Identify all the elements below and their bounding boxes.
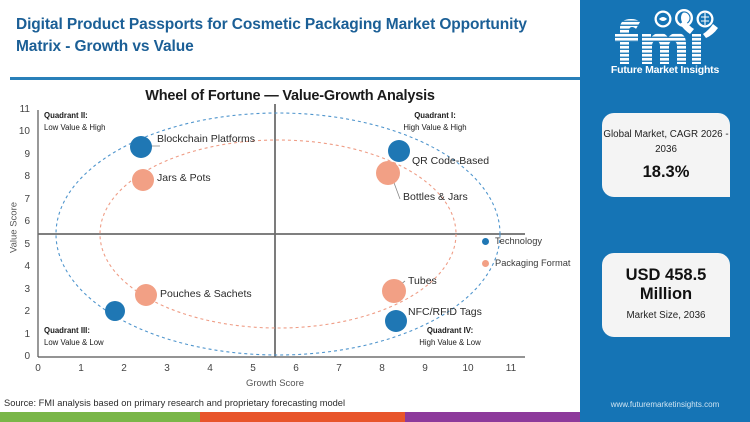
main-panel: Digital Product Passports for Cosmetic P…	[0, 0, 580, 422]
point-label-tubes: Tubes	[408, 275, 437, 288]
plot-svg	[0, 0, 580, 422]
y-tick-3: 3	[12, 284, 30, 295]
market-size-card-value: USD 458.5 Million	[602, 266, 730, 304]
x-tick-2: 2	[114, 363, 134, 374]
y-tick-6: 6	[12, 216, 30, 227]
quadrant-label-IV: Quadrant IV: High Value & Low	[395, 325, 505, 348]
marker-pouches-and-sachets	[135, 284, 157, 306]
sidebar: Future Market Insights Global Market, CA…	[580, 0, 750, 422]
cagr-card-caption: Global Market, CAGR 2026 - 2036	[602, 128, 730, 156]
marker-jars-and-pots	[132, 169, 154, 191]
y-tick-7: 7	[12, 194, 30, 205]
marker-blockchain-platforms	[130, 136, 152, 158]
market-size-card-caption: Market Size, 2036	[627, 309, 706, 323]
fmi-logo: Future Market Insights	[580, 6, 750, 78]
quadrant-I-subtitle: High Value & High	[380, 122, 490, 134]
point-label-qr-code-based: QR Code-Based	[412, 155, 489, 168]
y-tick-8: 8	[12, 171, 30, 182]
quadrant-III-subtitle: Low Value & Low	[44, 337, 104, 349]
quadrant-II-subtitle: Low Value & High	[44, 122, 105, 134]
x-tick-8: 8	[372, 363, 392, 374]
quadrant-label-II: Quadrant II: Low Value & High	[44, 110, 105, 133]
point-label-text: QR Code-Based	[412, 155, 489, 167]
cagr-card-value: 18.3%	[643, 163, 690, 182]
point-label-text: Pouches & Sachets	[160, 288, 252, 300]
quadrant-IV-title: Quadrant IV:	[395, 325, 505, 337]
x-axis-title: Growth Score	[0, 378, 550, 389]
x-tick-10: 10	[458, 363, 478, 374]
y-tick-5: 5	[12, 239, 30, 250]
point-label-pouches-and-sachets: Pouches & Sachets	[160, 288, 252, 301]
point-label-text: NFC/RFID Tags	[408, 306, 482, 318]
cagr-card: Global Market, CAGR 2026 - 2036 18.3%	[602, 113, 730, 197]
legend-label: Technology	[495, 236, 542, 246]
y-tick-0: 0	[12, 351, 30, 362]
x-tick-7: 7	[329, 363, 349, 374]
fmi-logo-subtitle: Future Market Insights	[580, 64, 750, 76]
quadrant-label-I: Quadrant I: High Value & High	[380, 110, 490, 133]
y-tick-1: 1	[12, 329, 30, 340]
legend-item-technology: Technology	[482, 236, 570, 246]
quadrant-II-title: Quadrant II:	[44, 110, 105, 122]
legend-dot-icon	[482, 260, 489, 267]
y-tick-2: 2	[12, 306, 30, 317]
x-tick-9: 9	[415, 363, 435, 374]
y-tick-9: 9	[12, 149, 30, 160]
footer-bar-orange	[200, 412, 405, 422]
y-tick-11: 11	[12, 104, 30, 115]
y-tick-4: 4	[12, 261, 30, 272]
website-url: www.futuremarketinsights.com	[580, 400, 750, 409]
x-tick-6: 6	[286, 363, 306, 374]
marker-qr-code-based	[388, 140, 410, 162]
quadrant-I-title: Quadrant I:	[380, 110, 490, 122]
legend-dot-icon	[482, 238, 489, 245]
y-tick-10: 10	[12, 126, 30, 137]
market-size-card: USD 458.5 Million Market Size, 2036	[602, 253, 730, 337]
point-label-bottles-and-jars: Bottles & Jars	[403, 191, 468, 204]
legend-label: Packaging Format	[495, 258, 570, 268]
x-tick-4: 4	[200, 363, 220, 374]
x-tick-5: 5	[243, 363, 263, 374]
marker-tubes	[382, 279, 406, 303]
quadrant-III-title: Quadrant III:	[44, 325, 104, 337]
source-note: Source: FMI analysis based on primary re…	[4, 398, 564, 408]
x-tick-3: 3	[157, 363, 177, 374]
quadrant-IV-subtitle: High Value & Low	[395, 337, 505, 349]
point-label-jars-and-pots: Jars & Pots	[157, 172, 211, 185]
point-label-text: Jars & Pots	[157, 172, 211, 184]
point-label-text: Blockchain Platforms	[157, 133, 255, 145]
scatter-plot: Growth Score Value Score 0 1 2 3 4 5 6 7…	[0, 0, 580, 422]
footer-bar-green	[0, 412, 200, 422]
marker-bottles-and-jars	[376, 161, 400, 185]
marker-technology-low	[105, 301, 125, 321]
x-tick-0: 0	[28, 363, 48, 374]
x-tick-1: 1	[71, 363, 91, 374]
quadrant-label-III: Quadrant III: Low Value & Low	[44, 325, 104, 348]
point-label-nfc-rfid-tags: NFC/RFID Tags	[408, 306, 482, 319]
x-tick-11: 11	[501, 363, 521, 374]
footer-bar-purple	[405, 412, 580, 422]
point-label-blockchain-platforms: Blockchain Platforms	[157, 133, 255, 146]
legend-item-packaging-format: Packaging Format	[482, 258, 570, 268]
chart-legend: Technology Packaging Format	[482, 236, 570, 280]
point-label-text: Bottles & Jars	[403, 191, 468, 203]
infographic-root: Digital Product Passports for Cosmetic P…	[0, 0, 750, 422]
point-label-text: Tubes	[408, 275, 437, 287]
